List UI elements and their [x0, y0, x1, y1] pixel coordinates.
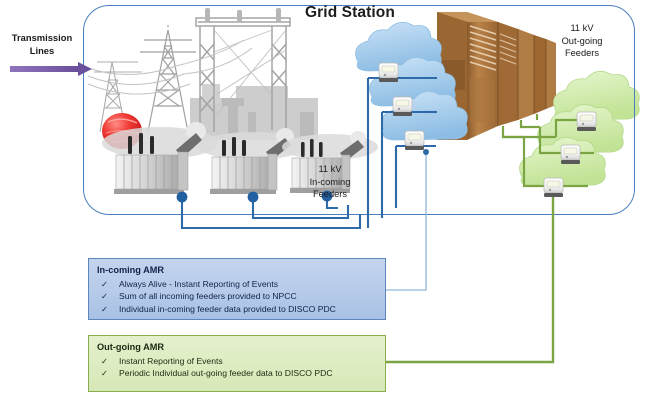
incoming-feeders-label-line1: 11 kV — [296, 163, 364, 176]
incoming-amr-list: ✓Always Alive - Instant Reporting of Eve… — [97, 278, 377, 316]
meter-in-3 — [405, 131, 424, 150]
incoming-feeder-lines — [182, 197, 360, 228]
outgoing-feeders-label-line1: 11 kV — [540, 22, 624, 35]
incoming-feeders-label-line3: Feeders — [296, 188, 364, 201]
list-item: ✓Instant Reporting of Events — [97, 355, 377, 368]
incoming-amr-item-3: Individual in-coming feeder data provide… — [119, 304, 336, 314]
list-item: ✓Sum of all incoming feeders provided to… — [97, 290, 377, 303]
incoming-feeders-label-line2: In-coming — [296, 176, 364, 189]
incoming-amr-title: In-coming AMR — [97, 264, 377, 277]
outgoing-amr-list: ✓Instant Reporting of Events ✓Periodic I… — [97, 355, 377, 380]
transmission-lines-label: Transmission Lines — [2, 31, 82, 57]
incoming-amr-link-node — [423, 149, 429, 155]
outgoing-feeders-label: 11 kV Out-going Feeders — [540, 22, 624, 60]
outgoing-feeders-label-line3: Feeders — [540, 47, 624, 60]
check-icon: ✓ — [101, 355, 108, 368]
incoming-amr-link — [386, 152, 426, 290]
check-icon: ✓ — [101, 303, 108, 316]
list-item: ✓Always Alive - Instant Reporting of Eve… — [97, 278, 377, 291]
meter-in-1 — [379, 63, 398, 82]
transmission-lines-label-line2: Lines — [2, 44, 82, 57]
outgoing-amr-box: Out-going AMR ✓Instant Reporting of Even… — [88, 335, 386, 392]
meter-in-2 — [393, 97, 412, 116]
outgoing-amr-link — [386, 192, 553, 362]
check-icon: ✓ — [101, 367, 108, 380]
meter-out-3 — [544, 178, 563, 197]
outgoing-amr-title: Out-going AMR — [97, 341, 377, 354]
transmission-lines-arrow — [10, 62, 92, 76]
check-icon: ✓ — [101, 290, 108, 303]
meter-out-2 — [561, 145, 580, 164]
meter-out-1 — [577, 112, 596, 131]
outgoing-feeders-label-line2: Out-going — [540, 35, 624, 48]
diagram-canvas: Grid Station — [0, 0, 670, 406]
outgoing-amr-item-1: Instant Reporting of Events — [119, 356, 223, 366]
page-title: Grid Station — [305, 4, 485, 22]
incoming-amr-box: In-coming AMR ✓Always Alive - Instant Re… — [88, 258, 386, 320]
incoming-amr-item-1: Always Alive - Instant Reporting of Even… — [119, 279, 278, 289]
transmission-lines-label-line1: Transmission — [2, 31, 82, 44]
incoming-amr-item-2: Sum of all incoming feeders provided to … — [119, 291, 297, 301]
outgoing-amr-item-2: Periodic Individual out-going feeder dat… — [119, 368, 333, 378]
list-item: ✓Periodic Individual out-going feeder da… — [97, 367, 377, 380]
check-icon: ✓ — [101, 278, 108, 291]
incoming-feeders-label: 11 kV In-coming Feeders — [296, 163, 364, 201]
list-item: ✓Individual in-coming feeder data provid… — [97, 303, 377, 316]
